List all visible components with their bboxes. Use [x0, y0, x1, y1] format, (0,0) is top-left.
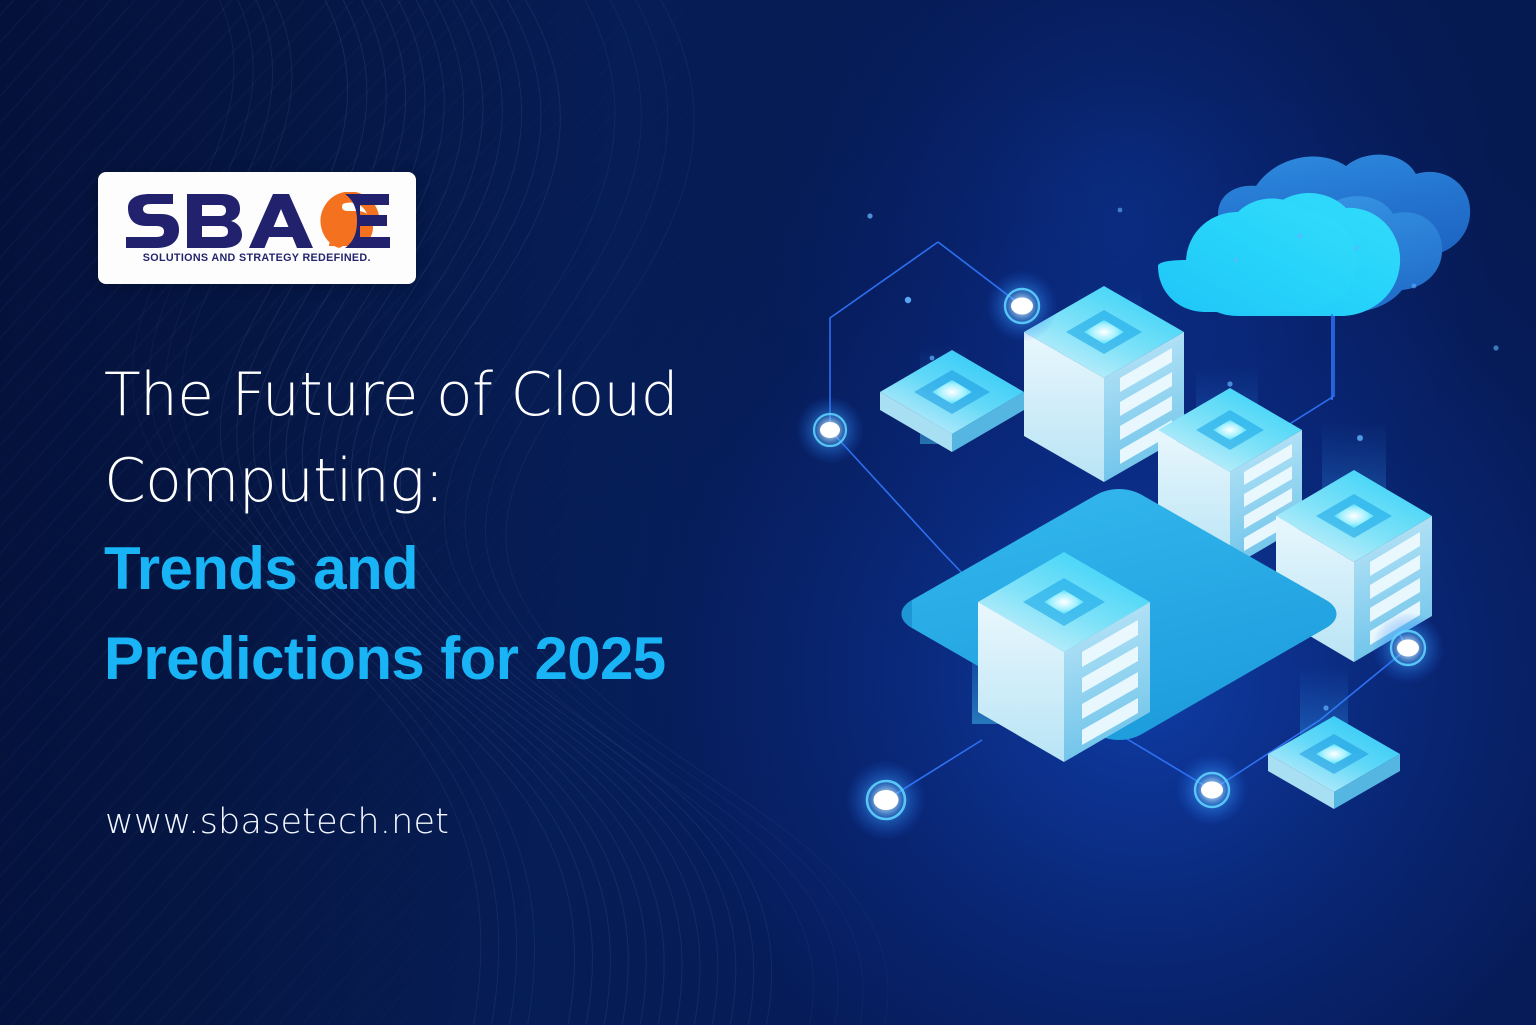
- headline-line-3: Trends and: [104, 524, 894, 614]
- headline-line-2: Computing:: [104, 438, 894, 524]
- logo-wordmark-sbase: [121, 192, 393, 250]
- logo-tagline: SOLUTIONS AND STRATEGY REDEFINED.: [143, 252, 371, 264]
- company-logo: SOLUTIONS AND STRATEGY REDEFINED.: [98, 172, 416, 284]
- website-url[interactable]: www.sbasetech.net: [105, 802, 449, 842]
- headline-line-1: The Future of Cloud: [104, 352, 894, 438]
- headline-line-4: Predictions for 2025: [104, 614, 894, 704]
- headline: The Future of Cloud Computing: Trends an…: [104, 352, 894, 704]
- banner-root: SOLUTIONS AND STRATEGY REDEFINED. The Fu…: [0, 0, 1536, 1025]
